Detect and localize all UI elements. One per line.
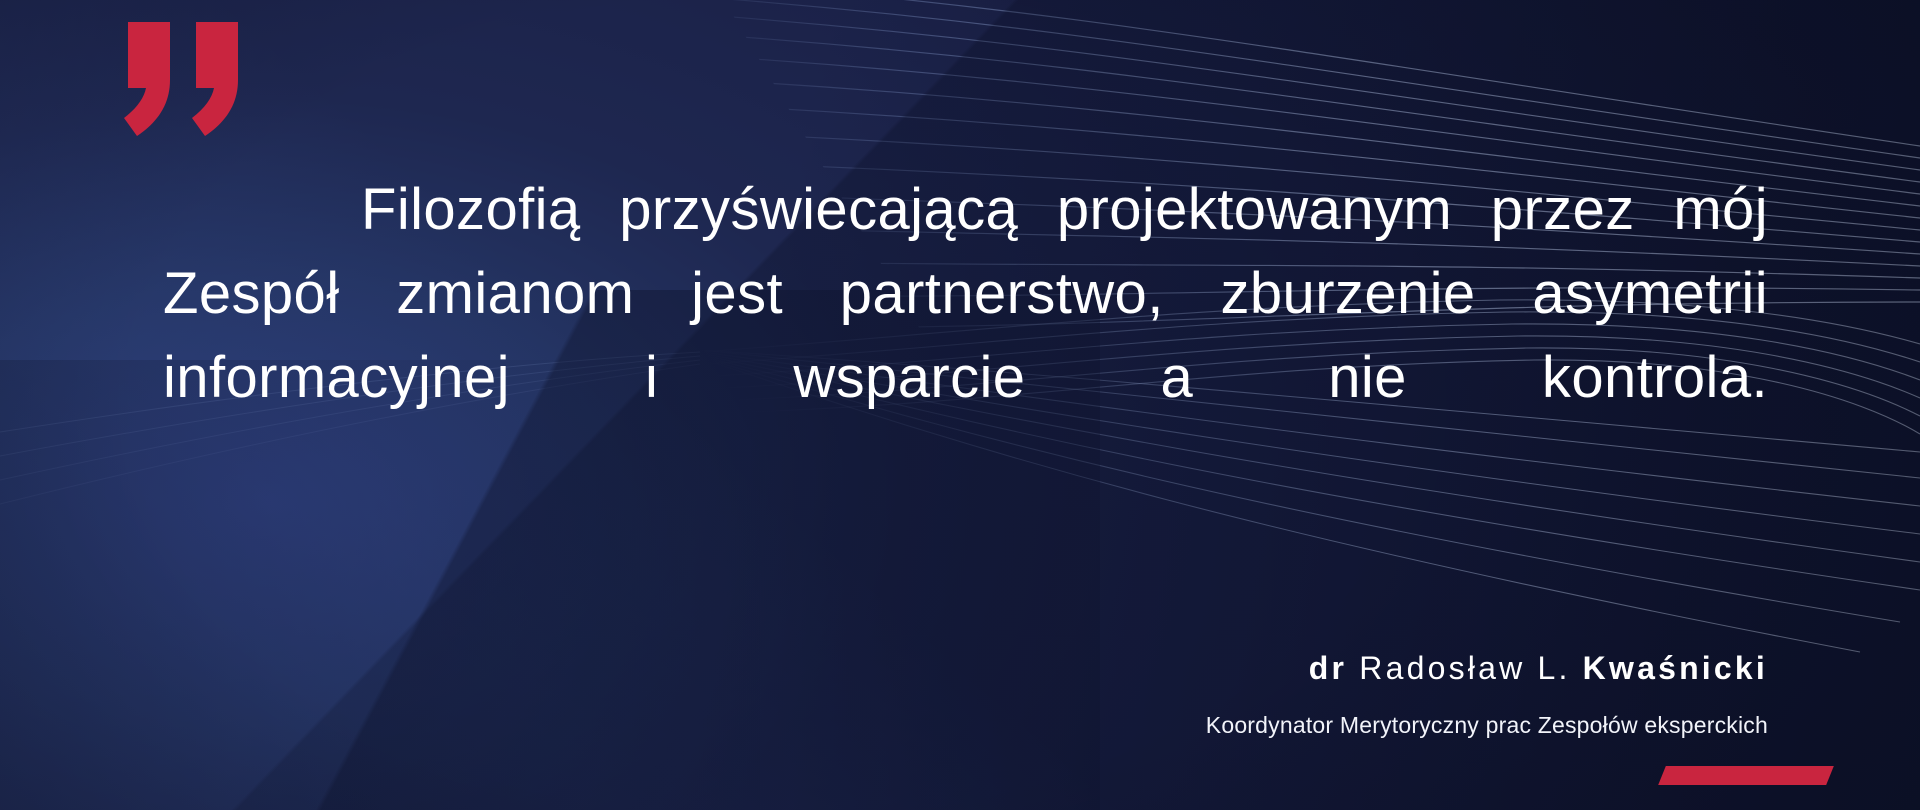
accent-bar xyxy=(1658,766,1834,785)
quote-block: Filozofią przyświecającą projektowanym p… xyxy=(163,168,1768,504)
author-title: dr xyxy=(1309,650,1347,686)
quote-text: Filozofią przyświecającą projektowanym p… xyxy=(163,168,1768,504)
quotation-mark-icon xyxy=(118,18,248,148)
author-given-name: Radosław xyxy=(1359,650,1525,686)
author-role: Koordynator Merytoryczny prac Zespołów e… xyxy=(1206,710,1768,740)
author-surname: Kwaśnicki xyxy=(1583,650,1768,686)
attribution: dr Radosław L. Kwaśnicki Koordynator Mer… xyxy=(1206,648,1768,740)
author-name: dr Radosław L. Kwaśnicki xyxy=(1206,648,1768,688)
author-middle-initial: L. xyxy=(1537,650,1570,686)
quote-slide: Filozofią przyświecającą projektowanym p… xyxy=(0,0,1920,810)
